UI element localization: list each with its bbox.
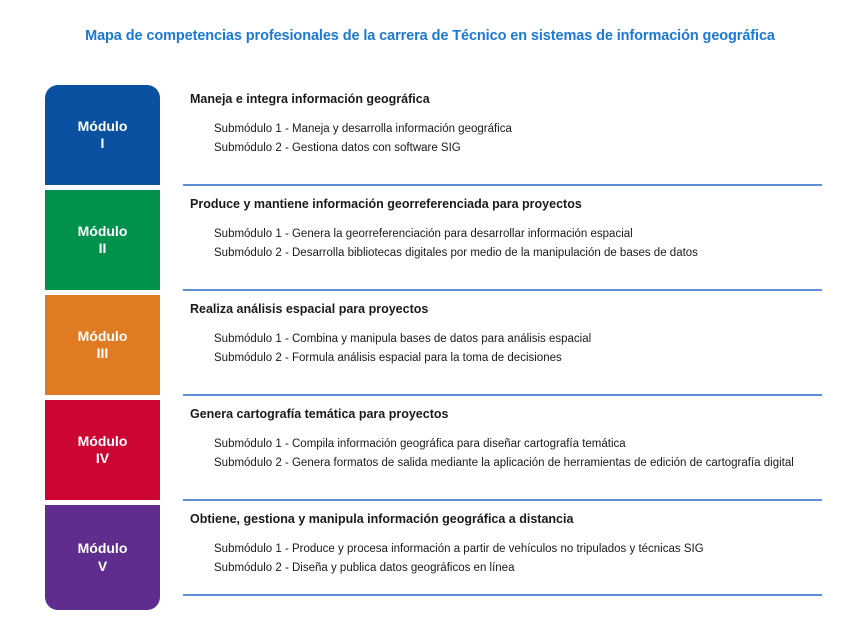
section-divider xyxy=(183,499,822,501)
competency-title: Maneja e integra información geográfica xyxy=(190,92,830,107)
submodule-list: Submódulo 1 - Combina y manipula bases d… xyxy=(190,330,830,367)
submodule-item: Submódulo 1 - Produce y procesa informac… xyxy=(214,540,830,559)
module-chip-label: Módulo xyxy=(78,540,128,558)
competency-title: Genera cartografía temática para proyect… xyxy=(190,407,830,422)
submodule-list: Submódulo 1 - Produce y procesa informac… xyxy=(190,540,830,577)
submodule-item: Submódulo 2 - Genera formatos de salida … xyxy=(214,454,830,473)
competency-title: Realiza análisis espacial para proyectos xyxy=(190,302,830,317)
competency-title: Produce y mantiene información georrefer… xyxy=(190,197,830,212)
submodule-item: Submódulo 2 - Diseña y publica datos geo… xyxy=(214,559,830,578)
module-chip-numeral: IV xyxy=(96,450,109,468)
module-chip-ii[interactable]: MóduloII xyxy=(45,190,160,290)
page-title: Mapa de competencias profesionales de la… xyxy=(0,28,860,44)
module-chip-iv[interactable]: MóduloIV xyxy=(45,400,160,500)
module-content-iv: Genera cartografía temática para proyect… xyxy=(190,407,830,472)
module-chip-v[interactable]: MóduloV xyxy=(45,505,160,610)
submodule-list: Submódulo 1 - Genera la georreferenciaci… xyxy=(190,225,830,262)
submodule-item: Submódulo 2 - Gestiona datos con softwar… xyxy=(214,139,830,158)
submodule-item: Submódulo 1 - Maneja y desarrolla inform… xyxy=(214,120,830,139)
submodule-list: Submódulo 1 - Maneja y desarrolla inform… xyxy=(190,120,830,157)
module-chip-numeral: III xyxy=(97,345,109,363)
module-chip-i[interactable]: MóduloI xyxy=(45,85,160,185)
submodule-item: Submódulo 1 - Genera la georreferenciaci… xyxy=(214,225,830,244)
module-content-i: Maneja e integra información geográficaS… xyxy=(190,92,830,157)
module-content-ii: Produce y mantiene información georrefer… xyxy=(190,197,830,262)
section-divider xyxy=(183,289,822,291)
submodule-item: Submódulo 2 - Desarrolla bibliotecas dig… xyxy=(214,244,830,263)
section-divider xyxy=(183,394,822,396)
module-chip-label: Módulo xyxy=(78,433,128,451)
module-chip-label: Módulo xyxy=(78,223,128,241)
module-chip-label: Módulo xyxy=(78,118,128,136)
section-divider xyxy=(183,184,822,186)
module-chip-numeral: II xyxy=(99,240,107,258)
module-content-iii: Realiza análisis espacial para proyectos… xyxy=(190,302,830,367)
submodule-item: Submódulo 2 - Formula análisis espacial … xyxy=(214,349,830,368)
section-divider xyxy=(183,594,822,596)
submodule-item: Submódulo 1 - Combina y manipula bases d… xyxy=(214,330,830,349)
module-chip-numeral: V xyxy=(98,558,107,576)
module-chip-numeral: I xyxy=(101,135,105,153)
submodule-list: Submódulo 1 - Compila información geográ… xyxy=(190,435,830,472)
competency-title: Obtiene, gestiona y manipula información… xyxy=(190,512,830,527)
module-chip-label: Módulo xyxy=(78,328,128,346)
module-content-v: Obtiene, gestiona y manipula información… xyxy=(190,512,830,577)
module-chip-iii[interactable]: MóduloIII xyxy=(45,295,160,395)
submodule-item: Submódulo 1 - Compila información geográ… xyxy=(214,435,830,454)
